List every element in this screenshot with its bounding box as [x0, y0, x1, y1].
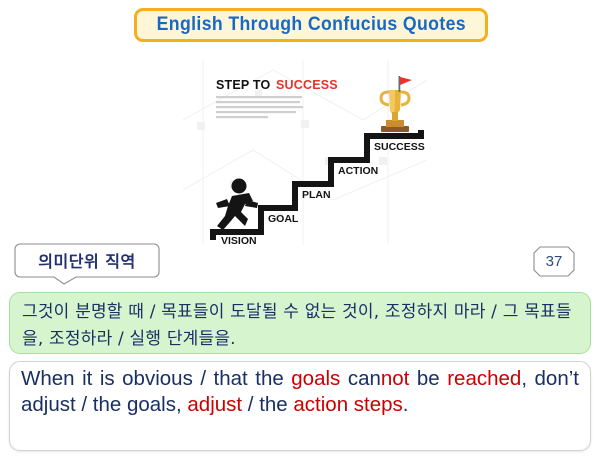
step-label-plan: PLAN [302, 189, 331, 201]
page-number-value: 37 [533, 246, 575, 277]
step-label-action: ACTION [338, 165, 378, 177]
illustration-heading-success: SUCCESS [276, 78, 338, 92]
step-label-goal: GOAL [268, 213, 299, 225]
english-sentence-text: When it is obvious / that the goals cann… [21, 366, 579, 418]
meaning-unit-badge-label: 의미단위 직역 [14, 243, 160, 277]
step-label-vision: VISION [221, 235, 257, 245]
sentence-segment-4: be [409, 367, 447, 390]
sentence-segment-3: not [381, 367, 410, 390]
sentence-segment-9: action steps [293, 393, 402, 416]
page-title: English Through Confucius Quotes [156, 14, 465, 36]
title-banner: English Through Confucius Quotes [134, 8, 488, 42]
sentence-segment-1: goals [291, 367, 340, 390]
english-sentence-box: When it is obvious / that the goals cann… [9, 361, 591, 451]
step-to-success-illustration: STEP TO SUCCESS VISION GOAL PLAN ACTION … [183, 60, 427, 245]
step-label-success: SUCCESS [374, 141, 425, 153]
staircase-diagram-svg: STEP TO SUCCESS VISION GOAL PLAN ACTION … [183, 60, 427, 245]
sentence-segment-7: adjust [187, 393, 242, 416]
sentence-segment-0: When it is obvious / that the [21, 367, 291, 390]
page-number-box: 37 [533, 246, 575, 277]
sentence-segment-8: / the [242, 393, 293, 416]
korean-translation-box: 그것이 분명할 때 / 목표들이 도달될 수 없는 것이, 조정하지 마라 / … [9, 292, 591, 354]
sentence-segment-10: . [403, 393, 409, 416]
sentence-segment-2: can [340, 367, 381, 390]
illustration-heading-step-to: STEP TO [216, 78, 271, 92]
meaning-unit-badge: 의미단위 직역 [14, 243, 160, 285]
sentence-segment-5: reached [447, 367, 521, 390]
korean-translation-text: 그것이 분명할 때 / 목표들이 도달될 수 없는 것이, 조정하지 마라 / … [22, 299, 578, 353]
